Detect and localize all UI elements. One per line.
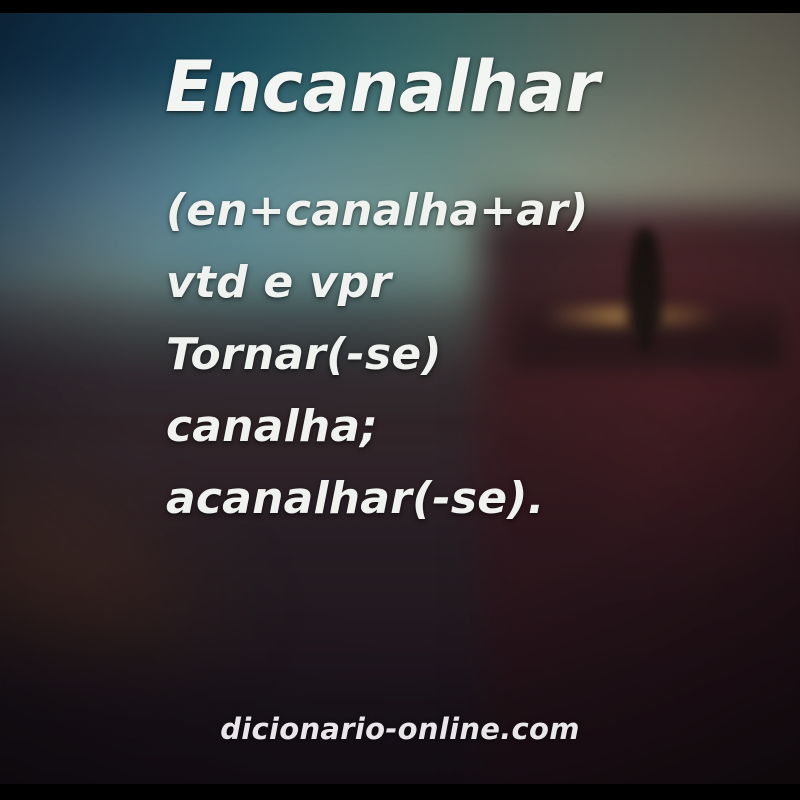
site-watermark: dicionario-online.com xyxy=(0,712,800,746)
headword-title: Encanalhar xyxy=(165,52,599,122)
sense-line-3: acanalhar(-se). xyxy=(166,463,726,535)
letterbox-bar-bottom xyxy=(0,784,800,800)
sense-line-1: Tornar(-se) xyxy=(166,319,726,391)
card-content: Encanalhar (en+canalha+ar) vtd e vpr Tor… xyxy=(0,0,800,800)
dictionary-word-card: Encanalhar (en+canalha+ar) vtd e vpr Tor… xyxy=(0,0,800,800)
sense-line-2: canalha; xyxy=(166,391,726,463)
grammar-line: vtd e vpr xyxy=(166,247,726,319)
letterbox-bar-top xyxy=(0,0,800,13)
definition-block: (en+canalha+ar) vtd e vpr Tornar(-se) ca… xyxy=(166,175,726,535)
etymology-line: (en+canalha+ar) xyxy=(166,175,726,247)
